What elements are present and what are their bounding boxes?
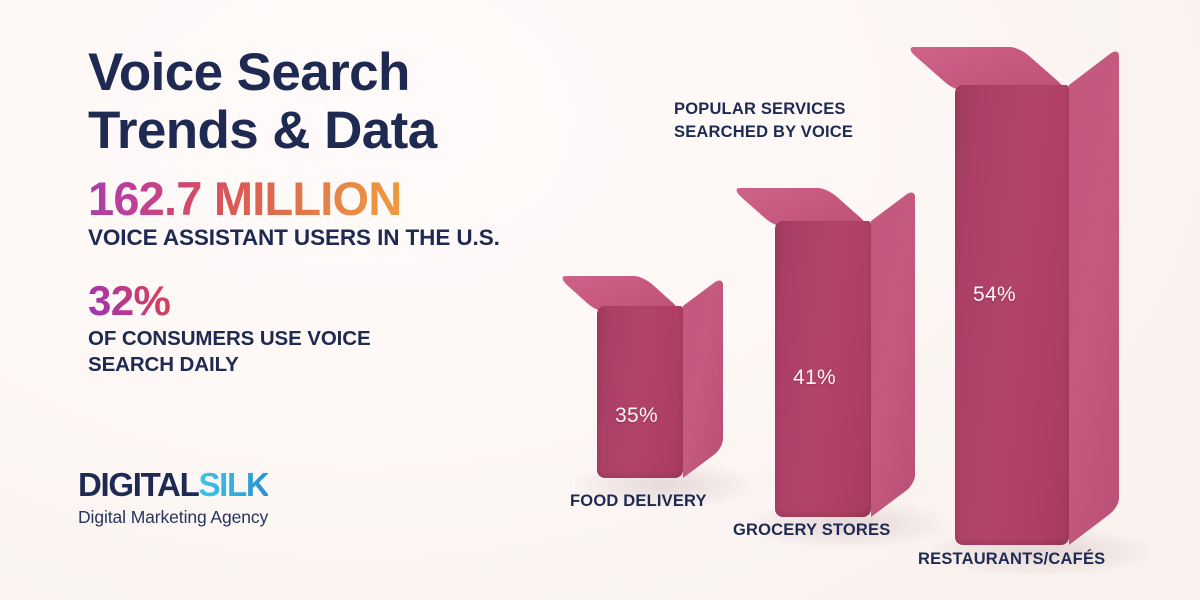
bar-value-label: 35% bbox=[615, 404, 658, 428]
logo-wordmark: DIGITALSILK bbox=[78, 468, 268, 501]
logo-tagline: Digital Marketing Agency bbox=[78, 507, 268, 528]
bar-value-label: 41% bbox=[793, 366, 836, 390]
bar-1[interactable] bbox=[597, 306, 683, 478]
brand-logo: DIGITALSILK Digital Marketing Agency bbox=[78, 468, 268, 528]
bar-front-face bbox=[955, 85, 1069, 545]
stat-primary-caption: VOICE ASSISTANT USERS IN THE U.S. bbox=[88, 225, 558, 252]
bar-category-label: FOOD DELIVERY bbox=[570, 492, 707, 511]
left-content-panel: Voice Search Trends & Data 162.7 MILLION… bbox=[88, 44, 558, 378]
stat-secondary-value: 32% bbox=[88, 280, 170, 323]
bar-category-label: RESTAURANTS/CAFÉS bbox=[918, 550, 1105, 569]
logo-word-silk: SILK bbox=[198, 466, 268, 503]
bar-side-face bbox=[871, 188, 915, 517]
stat-primary-block: 162.7 MILLION VOICE ASSISTANT USERS IN T… bbox=[88, 160, 558, 252]
infographic-canvas: Voice Search Trends & Data 162.7 MILLION… bbox=[0, 0, 1200, 600]
bar-side-face bbox=[1069, 47, 1119, 545]
bar-category-label: GROCERY STORES bbox=[733, 521, 890, 540]
stat-secondary-caption: OF CONSUMERS USE VOICE SEARCH DAILY bbox=[88, 326, 558, 378]
logo-word-digital: DIGITAL bbox=[78, 466, 198, 503]
bar-value-label: 54% bbox=[973, 283, 1016, 307]
bar-side-face bbox=[683, 276, 723, 478]
stat-secondary-block: 32% OF CONSUMERS USE VOICE SEARCH DAILY bbox=[88, 280, 558, 378]
page-title: Voice Search Trends & Data bbox=[88, 44, 558, 160]
chart-title: POPULAR SERVICES SEARCHED BY VOICE bbox=[674, 98, 853, 145]
bar-front-face bbox=[597, 306, 683, 478]
bar-3[interactable] bbox=[955, 85, 1069, 545]
stat-primary-value: 162.7 MILLION bbox=[88, 174, 401, 224]
